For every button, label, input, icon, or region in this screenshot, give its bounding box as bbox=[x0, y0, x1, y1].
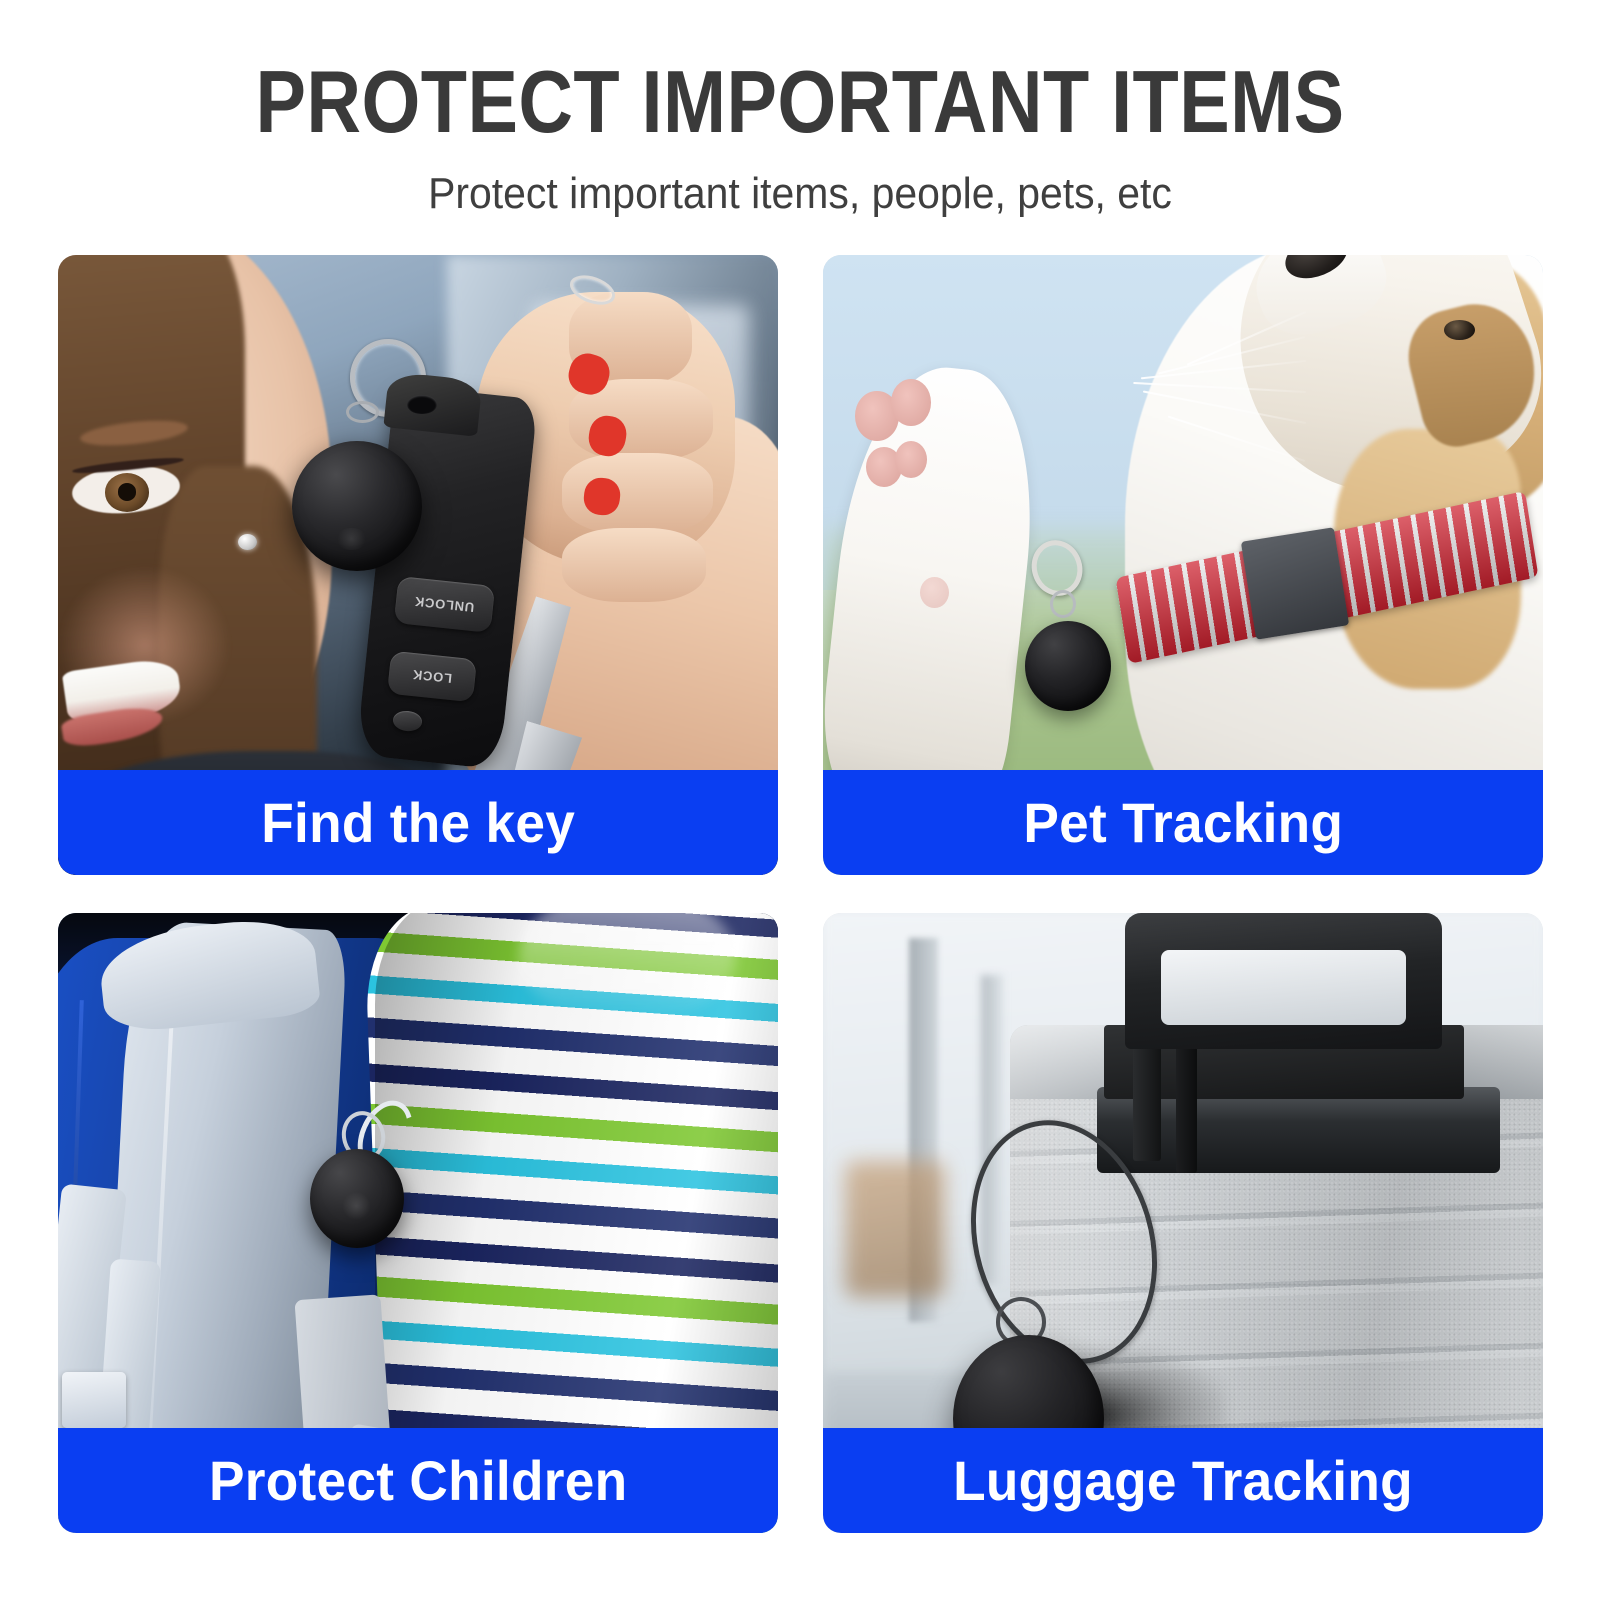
feature-card-pet-tracking[interactable]: Pet Tracking bbox=[823, 255, 1543, 875]
caption-bar-protect-children: Protect Children bbox=[58, 1428, 778, 1533]
feature-card-luggage-tracking[interactable]: Luggage Tracking bbox=[823, 913, 1543, 1533]
caption-label: Pet Tracking bbox=[1023, 795, 1343, 851]
feature-card-grid: UNLOCK LOCK Find the key bbox=[58, 255, 1543, 1533]
feature-card-protect-children[interactable]: Protect Children bbox=[58, 913, 778, 1533]
tracker-ring-icon bbox=[346, 401, 379, 423]
handle-opening bbox=[1161, 950, 1406, 1024]
caption-label: Find the key bbox=[261, 795, 575, 851]
dog-eye bbox=[1444, 320, 1474, 340]
finger bbox=[562, 528, 706, 602]
paw-pad bbox=[891, 379, 931, 426]
caption-bar-find-the-key: Find the key bbox=[58, 770, 778, 875]
fob-unlock-button: UNLOCK bbox=[394, 576, 496, 632]
tracker-button bbox=[335, 528, 367, 550]
caption-label: Luggage Tracking bbox=[953, 1453, 1413, 1509]
tracker-tag bbox=[292, 441, 422, 571]
tracker-tag bbox=[1025, 621, 1111, 711]
page-title: PROTECT IMPORTANT ITEMS bbox=[112, 58, 1488, 146]
page-header: PROTECT IMPORTANT ITEMS Protect importan… bbox=[0, 0, 1600, 216]
product-feature-page: PROTECT IMPORTANT ITEMS Protect importan… bbox=[0, 0, 1600, 1600]
tracker-button bbox=[342, 1192, 371, 1220]
collar-buckle bbox=[1241, 527, 1349, 640]
strap-buckle bbox=[62, 1372, 127, 1428]
fob-lock-button: LOCK bbox=[387, 650, 477, 702]
fob-lock-label: LOCK bbox=[412, 667, 453, 686]
caption-label: Protect Children bbox=[209, 1453, 627, 1509]
fob-unlock-label: UNLOCK bbox=[414, 593, 476, 614]
page-subtitle: Protect important items, people, pets, e… bbox=[56, 172, 1544, 216]
tracker-ring-icon bbox=[1050, 590, 1076, 619]
background-object bbox=[845, 1161, 946, 1297]
earring-icon bbox=[238, 534, 257, 550]
woman-pupil bbox=[118, 483, 137, 500]
caption-bar-pet-tracking: Pet Tracking bbox=[823, 770, 1543, 875]
feature-card-find-the-key[interactable]: UNLOCK LOCK Find the key bbox=[58, 255, 778, 875]
caption-bar-luggage-tracking: Luggage Tracking bbox=[823, 1428, 1543, 1533]
